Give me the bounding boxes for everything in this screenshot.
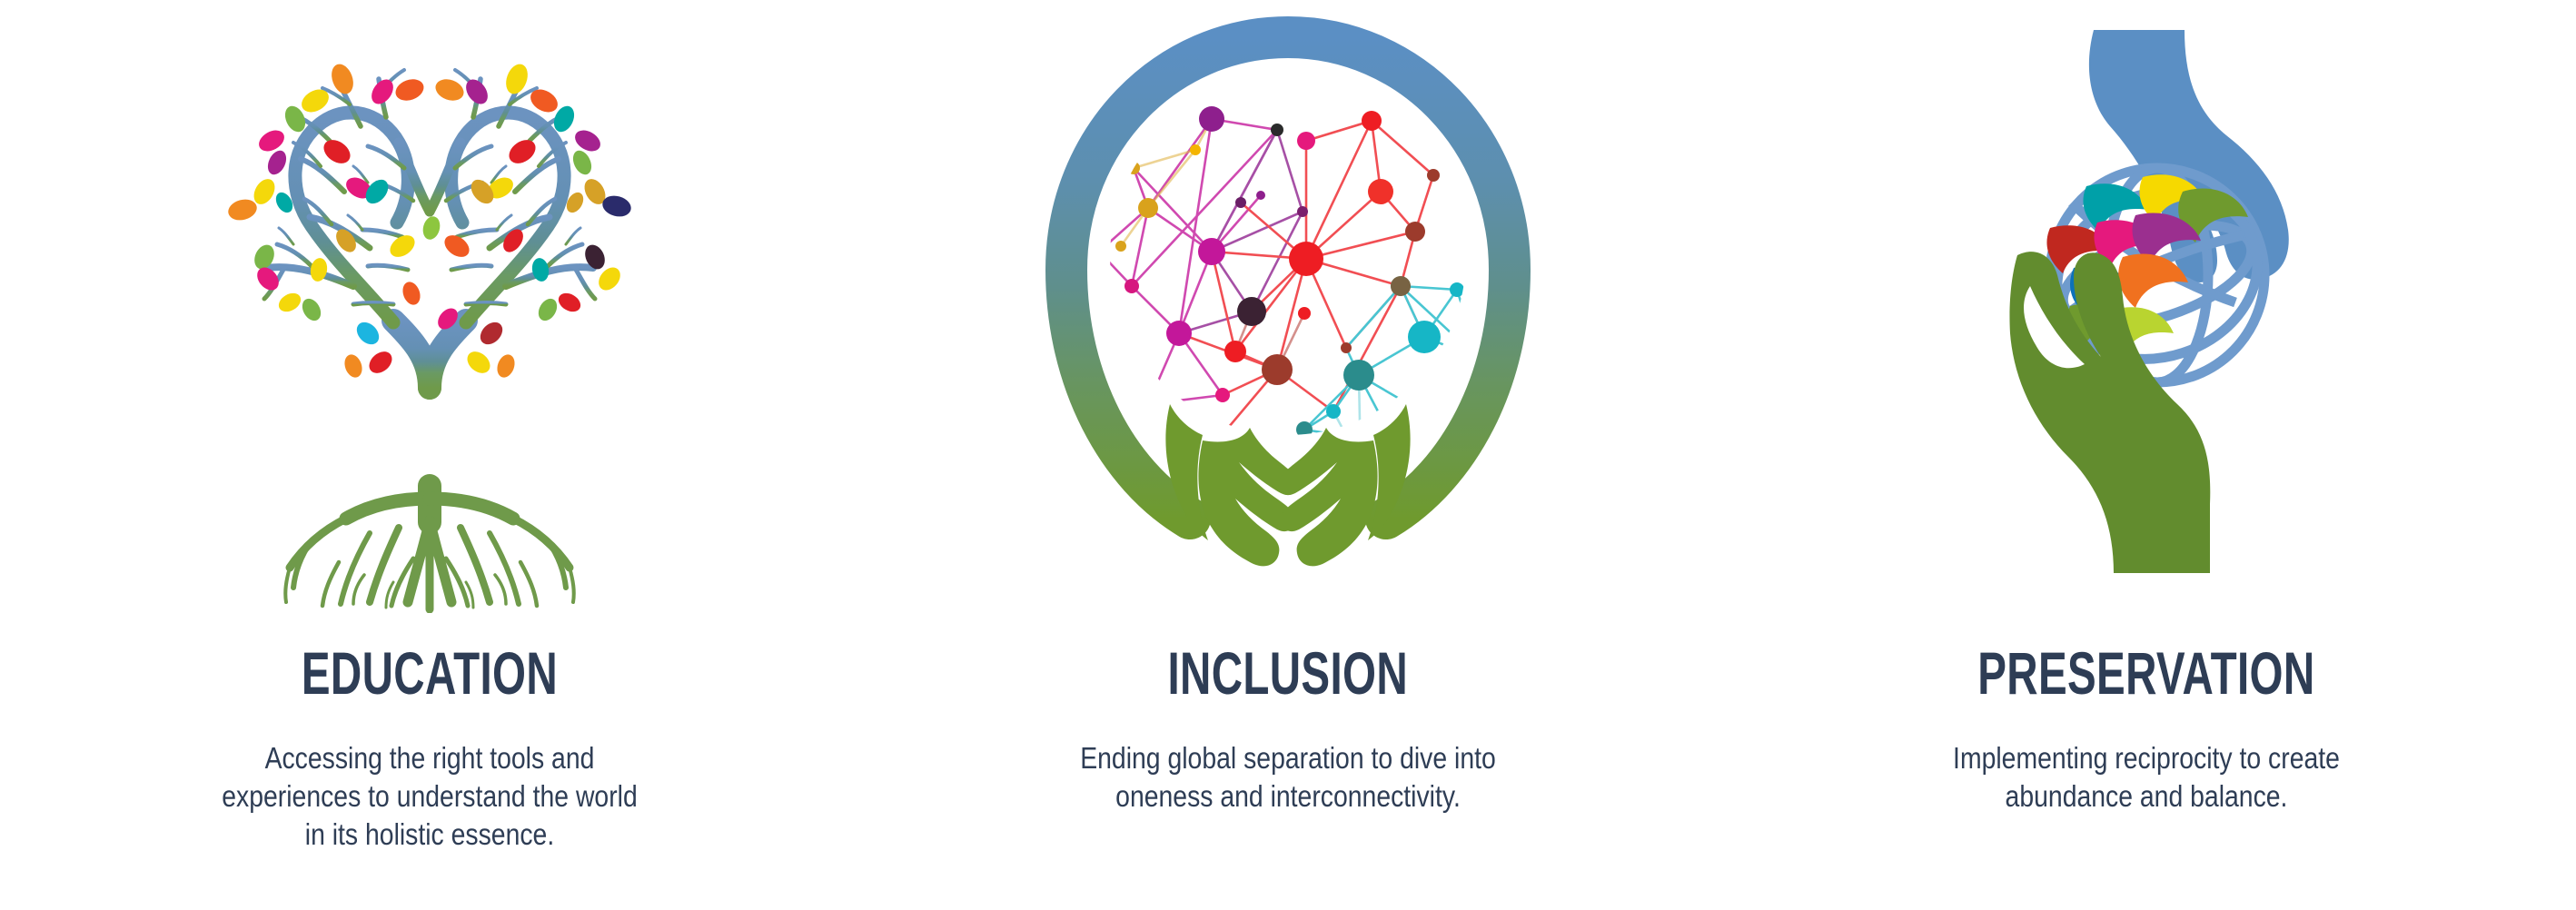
- values-board: EDUCATION Accessing the right tools and …: [0, 0, 2576, 910]
- preservation-description: Implementing reciprocity to create abund…: [1928, 703, 2366, 816]
- network-graph: [1093, 106, 1495, 486]
- education-description: Accessing the right tools and experience…: [211, 703, 649, 855]
- inclusion-heading: INCLUSION: [1168, 627, 1409, 703]
- lower-hand-icon: [2010, 252, 2211, 573]
- column-preservation: PRESERVATION Implementing reciprocity to…: [1718, 0, 2576, 910]
- preservation-illustration: [1718, 0, 2576, 627]
- inclusion-description: Ending global separation to dive into on…: [1069, 703, 1507, 816]
- inclusion-illustration: [858, 0, 1717, 627]
- tree-leaves: [225, 61, 633, 380]
- heart-tree-with-roots-icon: [175, 14, 684, 613]
- hands-cradling-globe-with-people-icon: [1892, 14, 2401, 613]
- hands-holding-network-globe-icon: [1034, 14, 1542, 613]
- column-inclusion: INCLUSION Ending global separation to di…: [858, 0, 1717, 910]
- left-hand-icon: [1165, 404, 1297, 566]
- preservation-heading: PRESERVATION: [1978, 627, 2315, 703]
- column-education: EDUCATION Accessing the right tools and …: [0, 0, 858, 910]
- education-illustration: [0, 0, 858, 627]
- education-heading: EDUCATION: [302, 627, 558, 703]
